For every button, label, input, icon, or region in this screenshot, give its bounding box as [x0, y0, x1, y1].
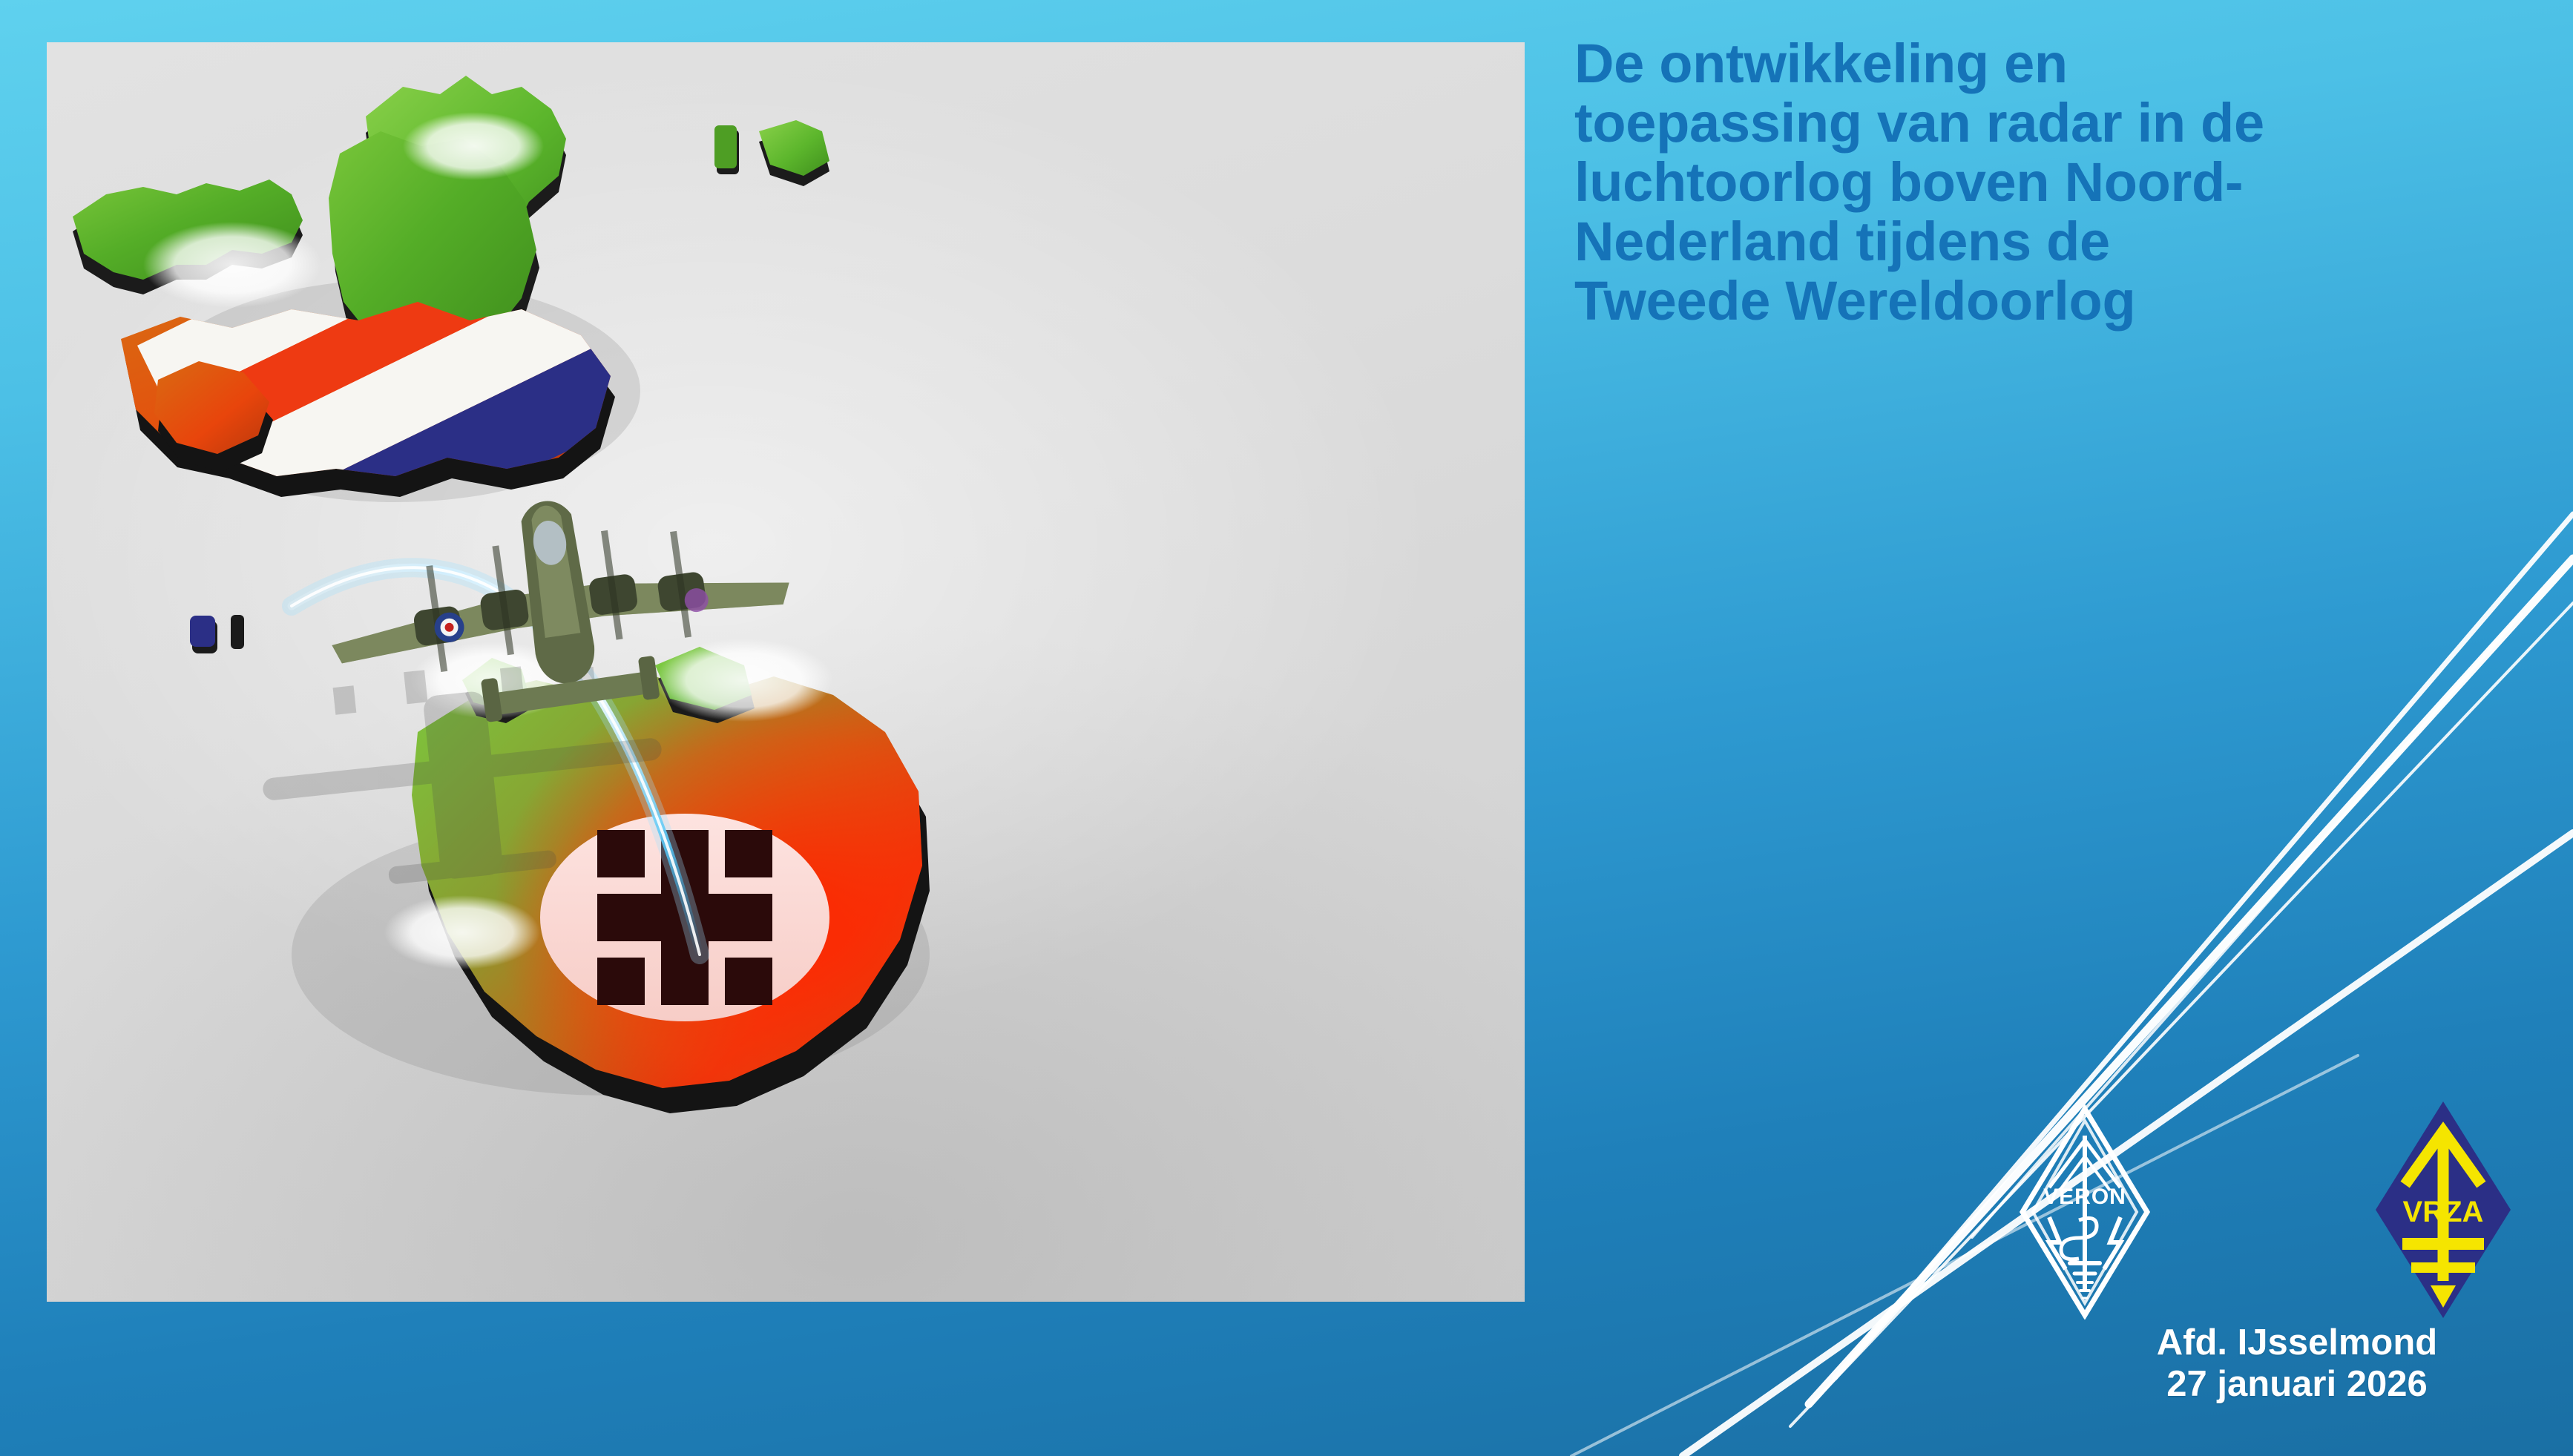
map-fragments-north	[714, 120, 829, 186]
map-illustration	[47, 42, 1525, 1302]
footer-caption: Afd. IJsselmond 27 januari 2026	[2137, 1322, 2457, 1406]
veron-diamond-icon: VERON	[2022, 1109, 2147, 1315]
vrza-wordmark: VRZA	[2403, 1196, 2484, 1228]
footer-block: VERON VRZA Afd. IJsselmond 27 januari 20…	[2000, 1098, 2520, 1410]
slide-image-panel	[47, 42, 1525, 1302]
vrza-diamond-icon: VRZA	[2376, 1101, 2511, 1318]
vrza-logo: VRZA	[2373, 1098, 2514, 1321]
page-title: De ontwikkeling en toepassing van radar …	[1574, 34, 2487, 331]
map-small-islands	[190, 615, 244, 653]
veron-wordmark: VERON	[2043, 1185, 2126, 1209]
veron-logo: VERON	[2017, 1104, 2154, 1320]
